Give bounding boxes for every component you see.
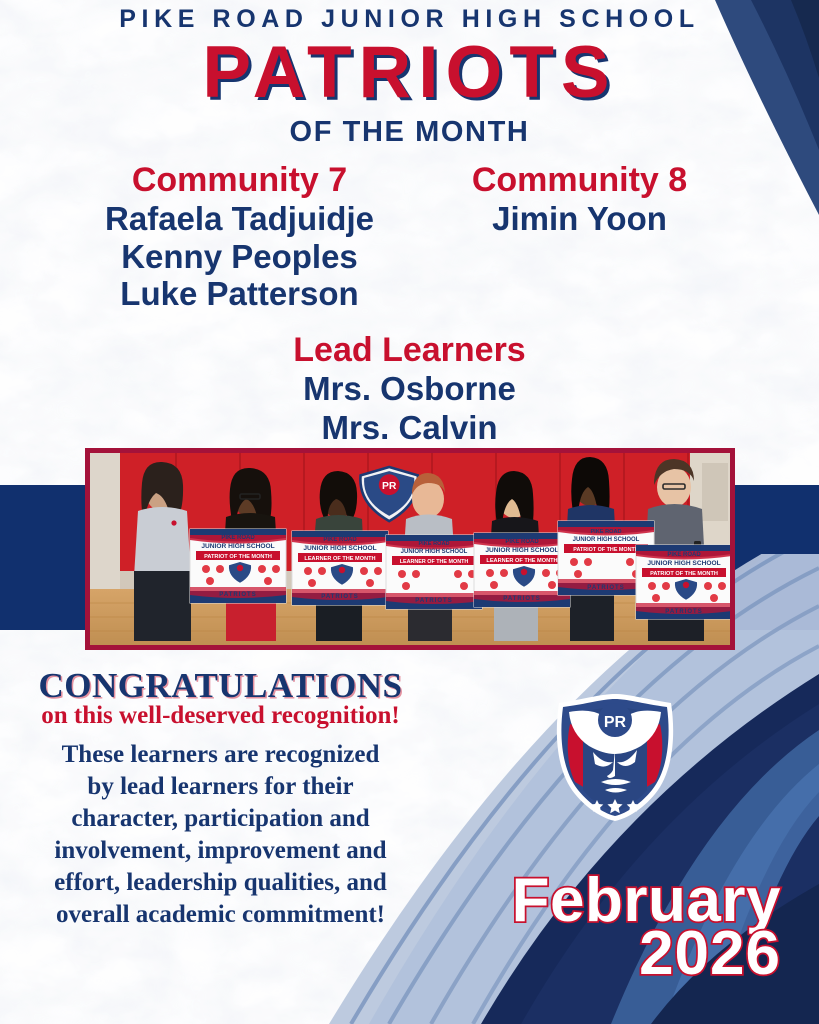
lead-learner-name: Mrs. Osborne: [0, 370, 819, 408]
svg-text:PIKE ROAD: PIKE ROAD: [323, 537, 357, 543]
svg-text:LEARNER OF THE MONTH: LEARNER OF THE MONTH: [486, 558, 557, 564]
date-block: February 2026: [512, 872, 781, 984]
svg-text:JUNIOR HIGH SCHOOL: JUNIOR HIGH SCHOOL: [647, 560, 720, 567]
award-sign: PIKE ROAD JUNIOR HIGH SCHOOL PATRIOT OF …: [190, 529, 286, 603]
svg-text:PATRIOTS: PATRIOTS: [219, 592, 256, 598]
lead-learners-title: Lead Learners: [0, 331, 819, 370]
award-sign: PIKE ROAD JUNIOR HIGH SCHOOL LEARNER OF …: [292, 531, 388, 605]
honoree-name: Luke Patterson: [80, 275, 400, 313]
community-7-title: Community 7: [80, 161, 400, 200]
body-line: character, participation and: [8, 803, 433, 835]
person: [134, 462, 191, 641]
svg-text:PIKE ROAD: PIKE ROAD: [221, 535, 255, 541]
svg-text:PIKE ROAD: PIKE ROAD: [590, 529, 621, 535]
congratulations-subline: on this well-deserved recognition!: [8, 703, 433, 729]
svg-text:PIKE ROAD: PIKE ROAD: [667, 552, 701, 558]
honoree-name: Jimin Yoon: [420, 200, 740, 238]
community-7-column: Community 7 Rafaela Tadjuidje Kenny Peop…: [80, 161, 410, 313]
logo-monogram: PR: [604, 714, 627, 731]
svg-text:JUNIOR HIGH SCHOOL: JUNIOR HIGH SCHOOL: [401, 549, 468, 555]
svg-text:PATRIOTS: PATRIOTS: [503, 596, 540, 602]
congratulations-headline: CONGRATULATIONS: [8, 668, 433, 705]
svg-text:PATRIOTS: PATRIOTS: [415, 598, 452, 604]
communities-section: Community 7 Rafaela Tadjuidje Kenny Peop…: [0, 161, 819, 313]
award-sign: PIKE ROAD JUNIOR HIGH SCHOOL LEARNER OF …: [386, 535, 482, 609]
group-photo-content: PR: [90, 453, 730, 645]
community-8-column: Community 8 Jimin Yoon: [410, 161, 740, 313]
svg-text:PATRIOTS: PATRIOTS: [587, 585, 624, 591]
svg-text:PATRIOTS: PATRIOTS: [665, 609, 702, 615]
recognition-body: These learners are recognized by lead le…: [8, 739, 433, 931]
svg-text:PATRIOT OF THE MONTH: PATRIOT OF THE MONTH: [204, 554, 272, 560]
honoree-name: Kenny Peoples: [80, 238, 400, 276]
body-line: effort, leadership qualities, and: [8, 867, 433, 899]
body-line: These learners are recognized: [8, 739, 433, 771]
group-photo: PR: [85, 448, 735, 650]
svg-text:LEARNER OF THE MONTH: LEARNER OF THE MONTH: [304, 556, 375, 562]
svg-text:JUNIOR HIGH SCHOOL: JUNIOR HIGH SCHOOL: [573, 537, 640, 543]
lead-learners-section: Lead Learners Mrs. Osborne Mrs. Calvin: [0, 331, 819, 447]
svg-text:LEARNER OF THE MONTH: LEARNER OF THE MONTH: [400, 559, 469, 565]
congratulations-section: CONGRATULATIONS on this well-deserved re…: [8, 668, 433, 931]
body-line: by lead learners for their: [8, 771, 433, 803]
school-name: PIKE ROAD JUNIOR HIGH SCHOOL: [0, 7, 819, 32]
community-8-title: Community 8: [420, 161, 740, 200]
svg-text:PIKE ROAD: PIKE ROAD: [505, 539, 539, 545]
page-title: PATRIOTS: [0, 36, 819, 110]
poster-canvas: PIKE ROAD JUNIOR HIGH SCHOOL PATRIOTS OF…: [0, 0, 819, 1024]
award-sign: PIKE ROAD JUNIOR HIGH SCHOOL PATRIOT OF …: [636, 545, 730, 619]
svg-text:PATRIOT OF THE MONTH: PATRIOT OF THE MONTH: [650, 571, 718, 577]
patriots-shield-logo: PR: [545, 690, 685, 825]
page-subtitle: OF THE MONTH: [0, 116, 819, 149]
svg-text:PR: PR: [382, 481, 397, 492]
poster-header: PIKE ROAD JUNIOR HIGH SCHOOL PATRIOTS OF…: [0, 0, 819, 149]
svg-text:PIKE ROAD: PIKE ROAD: [418, 541, 449, 547]
svg-text:JUNIOR HIGH SCHOOL: JUNIOR HIGH SCHOOL: [303, 545, 376, 552]
svg-text:JUNIOR HIGH SCHOOL: JUNIOR HIGH SCHOOL: [485, 547, 558, 554]
body-line: overall academic commitment!: [8, 899, 433, 931]
svg-text:PATRIOTS: PATRIOTS: [321, 594, 358, 600]
honoree-name: Rafaela Tadjuidje: [80, 200, 400, 238]
body-line: involvement, improvement and: [8, 835, 433, 867]
award-sign: PIKE ROAD JUNIOR HIGH SCHOOL LEARNER OF …: [474, 533, 570, 607]
lead-learner-name: Mrs. Calvin: [0, 409, 819, 447]
svg-text:PATRIOT OF THE MONTH: PATRIOT OF THE MONTH: [573, 547, 638, 553]
svg-text:JUNIOR HIGH SCHOOL: JUNIOR HIGH SCHOOL: [201, 543, 274, 550]
